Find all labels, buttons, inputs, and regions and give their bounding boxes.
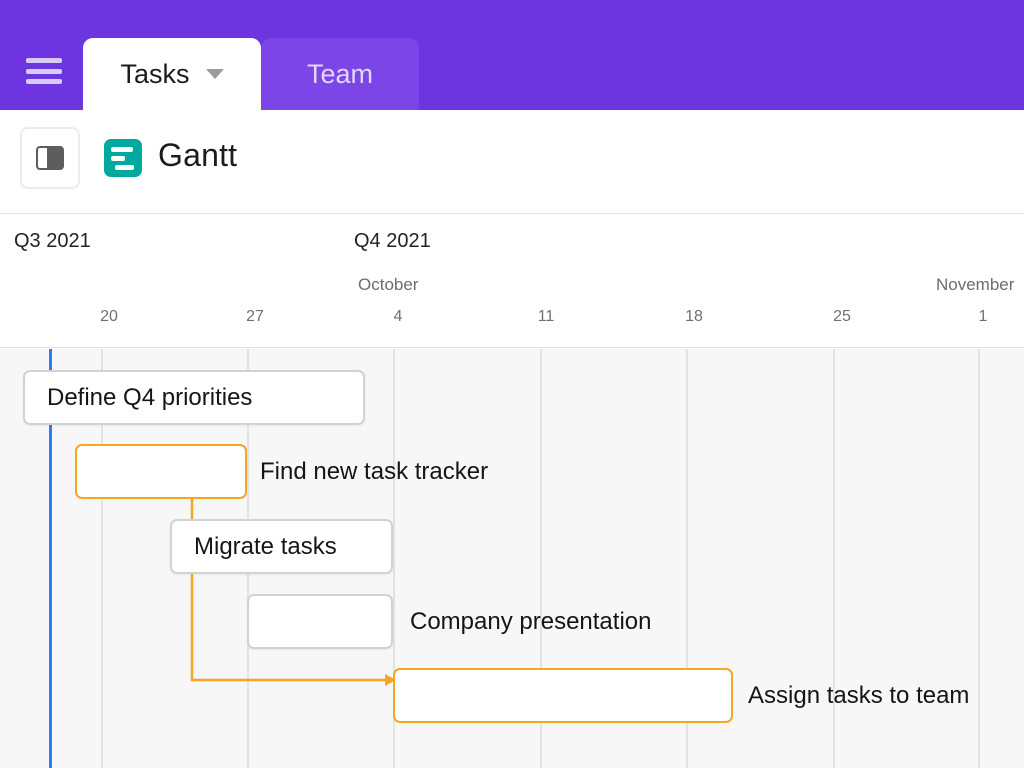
hamburger-line: [26, 79, 62, 84]
gantt-task-label: Company presentation: [410, 594, 651, 649]
gantt-task-bar[interactable]: [393, 668, 733, 723]
tab-tasks[interactable]: Tasks: [83, 38, 261, 110]
timeline-week-label: 4: [394, 308, 403, 326]
timeline-week-label: 1: [979, 308, 988, 326]
tab-tasks-label: Tasks: [120, 59, 189, 90]
timeline-month-label: October: [358, 275, 418, 295]
top-navigation-bar: Tasks Team: [0, 0, 1024, 110]
timeline-month-label: November: [936, 275, 1014, 295]
gantt-task-label: Find new task tracker: [260, 444, 488, 499]
timeline-week-label: 18: [685, 308, 703, 326]
gantt-icon-bar: [111, 147, 133, 152]
sidebar-toggle-button[interactable]: [20, 127, 80, 189]
gantt-task-bar[interactable]: Define Q4 priorities: [23, 370, 365, 425]
gantt-icon-bar: [111, 156, 125, 161]
hamburger-line: [26, 69, 62, 74]
gantt-gridline: [978, 349, 980, 768]
gantt-chart-area[interactable]: Define Q4 prioritiesFind new task tracke…: [0, 349, 1024, 768]
sidebar-panel-icon: [36, 146, 64, 170]
timeline-quarter-label: Q3 2021: [14, 230, 91, 253]
gantt-icon: [104, 139, 142, 177]
gantt-task-bar[interactable]: [75, 444, 247, 499]
gantt-task-bar[interactable]: Migrate tasks: [170, 519, 393, 574]
gantt-task-label: Migrate tasks: [172, 533, 337, 561]
gantt-task-label: Assign tasks to team: [748, 668, 969, 723]
hamburger-line: [26, 58, 62, 63]
page-title: Gantt: [158, 137, 237, 174]
timeline-week-label: 11: [538, 308, 555, 326]
gantt-task-bar[interactable]: [247, 594, 393, 649]
tab-team[interactable]: Team: [261, 38, 419, 110]
timeline-week-label: 25: [833, 308, 851, 326]
timeline-week-label: 27: [246, 308, 264, 326]
timeline-quarter-label: Q4 2021: [354, 230, 431, 253]
gantt-task-label: Define Q4 priorities: [25, 384, 252, 412]
gantt-app: Tasks Team Gantt Q3 2021Q4 2021 OctoberN…: [0, 0, 1024, 768]
gantt-icon-bar: [115, 165, 134, 170]
hamburger-icon[interactable]: [26, 58, 62, 84]
view-toolbar: [0, 110, 1024, 214]
timeline-week-label: 20: [100, 308, 118, 326]
tab-bar: Tasks Team: [83, 0, 419, 110]
tab-team-label: Team: [307, 59, 373, 90]
timeline-header: [0, 215, 1024, 348]
chevron-down-icon[interactable]: [206, 69, 224, 79]
